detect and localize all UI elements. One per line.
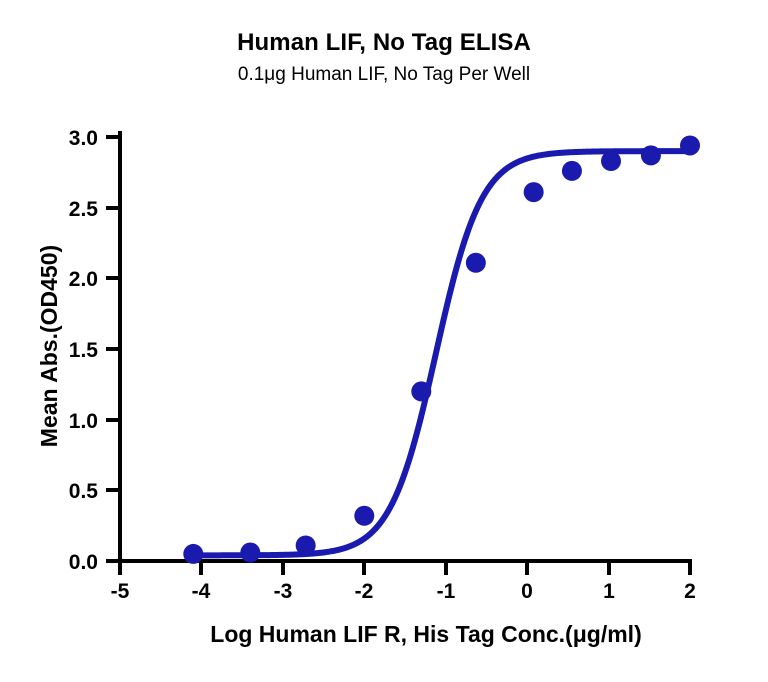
y-tick-label: 2.5 [69, 198, 99, 221]
x-tick-label: -5 [111, 580, 130, 603]
x-tick-label: 0 [521, 580, 533, 603]
y-tick-label: 2.0 [69, 268, 98, 291]
x-tick-label: -2 [355, 580, 374, 603]
data-point [240, 543, 260, 563]
y-tick-labels: 0.0 0.5 1.0 1.5 2.0 2.5 3.0 [69, 127, 99, 574]
data-point [296, 535, 316, 555]
y-axis-title: Mean Abs.(OD450) [36, 245, 62, 447]
data-point [601, 151, 621, 171]
data-point [466, 253, 486, 273]
data-point [354, 506, 374, 526]
plot-area: 0.0 0.5 1.0 1.5 2.0 2.5 3.0 -5 -4 -3 -2 … [0, 0, 768, 682]
y-tick-label: 1.0 [69, 410, 98, 433]
data-point [562, 161, 582, 181]
x-axis-title: Log Human LIF R, His Tag Conc.(μg/ml) [210, 621, 641, 647]
data-point-group [183, 135, 700, 563]
data-point [183, 544, 203, 564]
data-point [641, 145, 661, 165]
data-point [680, 135, 700, 155]
x-tick-label: 1 [603, 580, 615, 603]
y-tick-label: 3.0 [69, 127, 98, 150]
fit-curve [193, 151, 690, 555]
x-tick-label: -4 [192, 580, 211, 603]
y-tick-label: 0.0 [69, 551, 98, 574]
y-axis-ticks [106, 137, 120, 561]
data-point [411, 381, 431, 401]
elisa-chart-figure: Human LIF, No Tag ELISA 0.1μg Human LIF,… [0, 0, 768, 682]
x-tick-label: -1 [437, 580, 456, 603]
y-tick-label: 1.5 [69, 339, 99, 362]
data-point [524, 182, 544, 202]
x-tick-label: 2 [684, 580, 696, 603]
x-axis-ticks [120, 561, 690, 575]
x-tick-label: -3 [274, 580, 293, 603]
x-tick-labels: -5 -4 -3 -2 -1 0 1 2 [111, 580, 696, 603]
y-tick-label: 0.5 [69, 480, 99, 503]
